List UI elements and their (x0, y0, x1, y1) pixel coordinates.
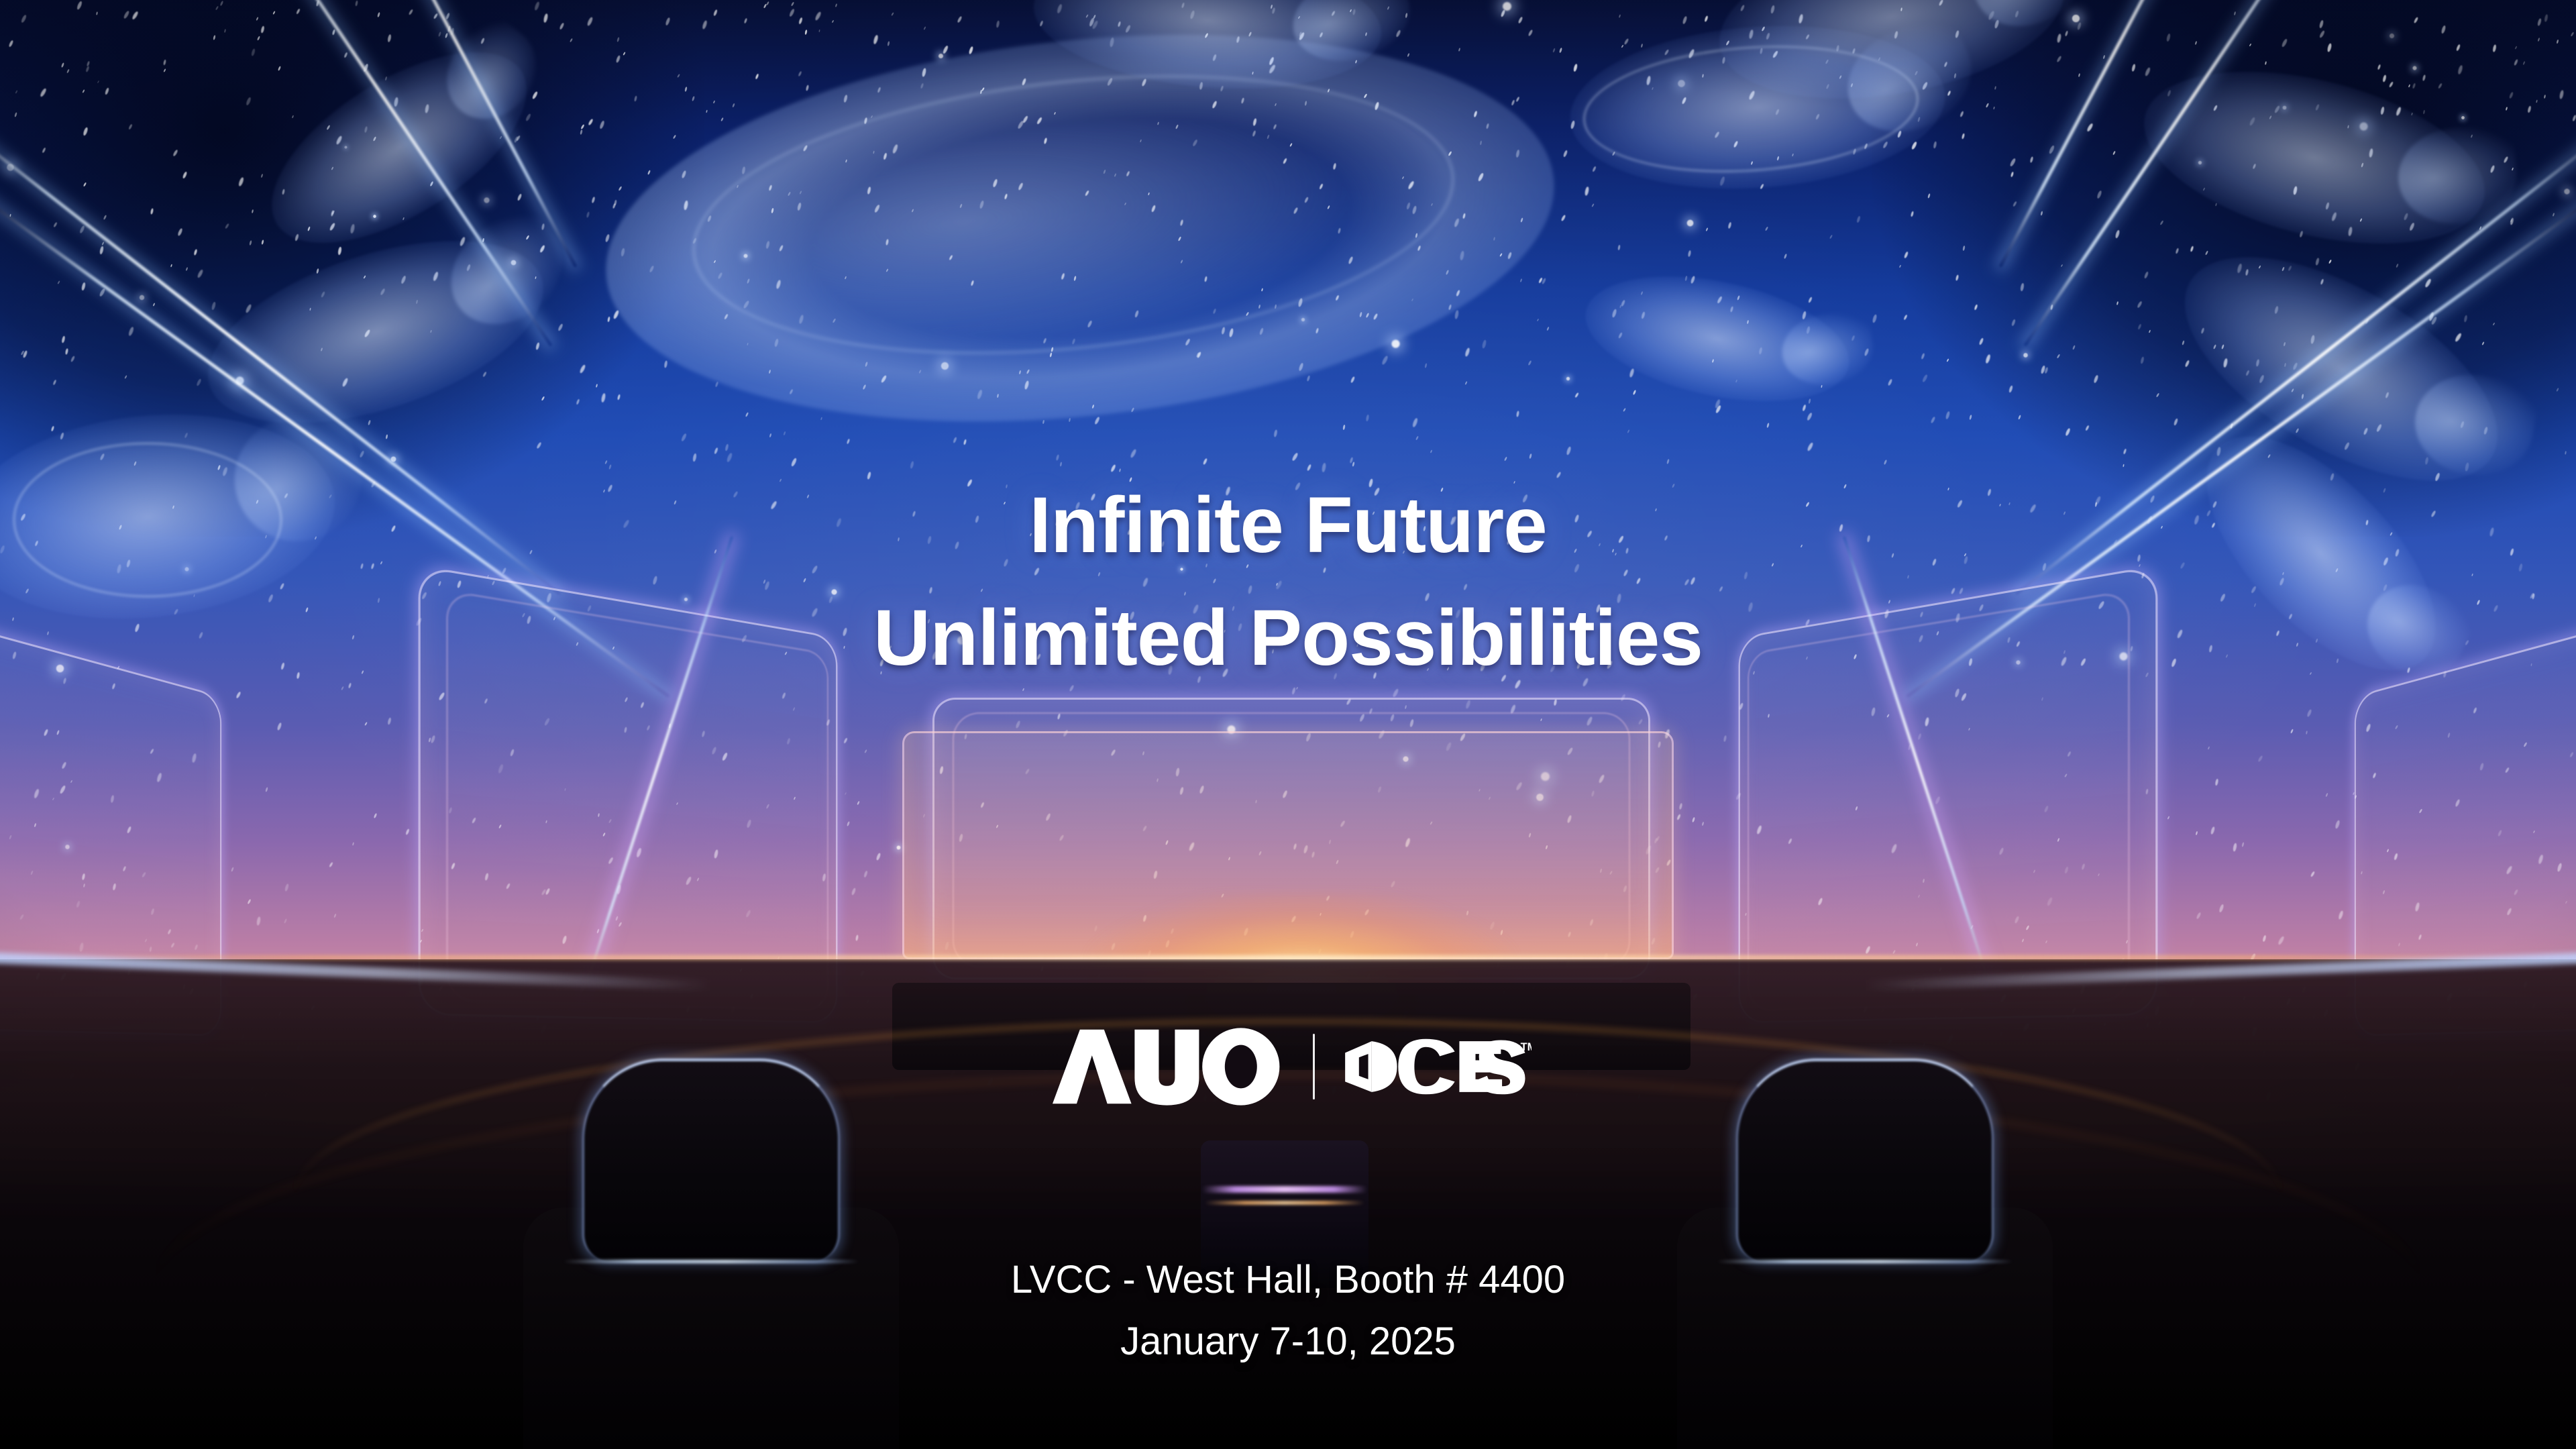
canopy-pane-left-ghost (446, 590, 828, 1010)
seat-left-shoulder-light (563, 1260, 859, 1263)
logo-divider (1313, 1034, 1315, 1099)
center-console (1201, 1140, 1368, 1288)
seat-right-shoulder-light (1717, 1260, 2012, 1263)
dashboard-edge-light (0, 955, 2576, 960)
svg-text:TM: TM (1520, 1041, 1532, 1053)
key-visual-canvas: Infinite Future Unlimited Possibilities (0, 0, 2576, 1449)
logo-lockup: TM (0, 1026, 2576, 1107)
auo-logo (1044, 1026, 1286, 1107)
canopy-pane-right-ghost (1748, 590, 2129, 1010)
ces-logo: TM (1342, 1038, 1532, 1095)
console-light-amber (1205, 1201, 1364, 1205)
console-light-purple (1202, 1186, 1367, 1193)
